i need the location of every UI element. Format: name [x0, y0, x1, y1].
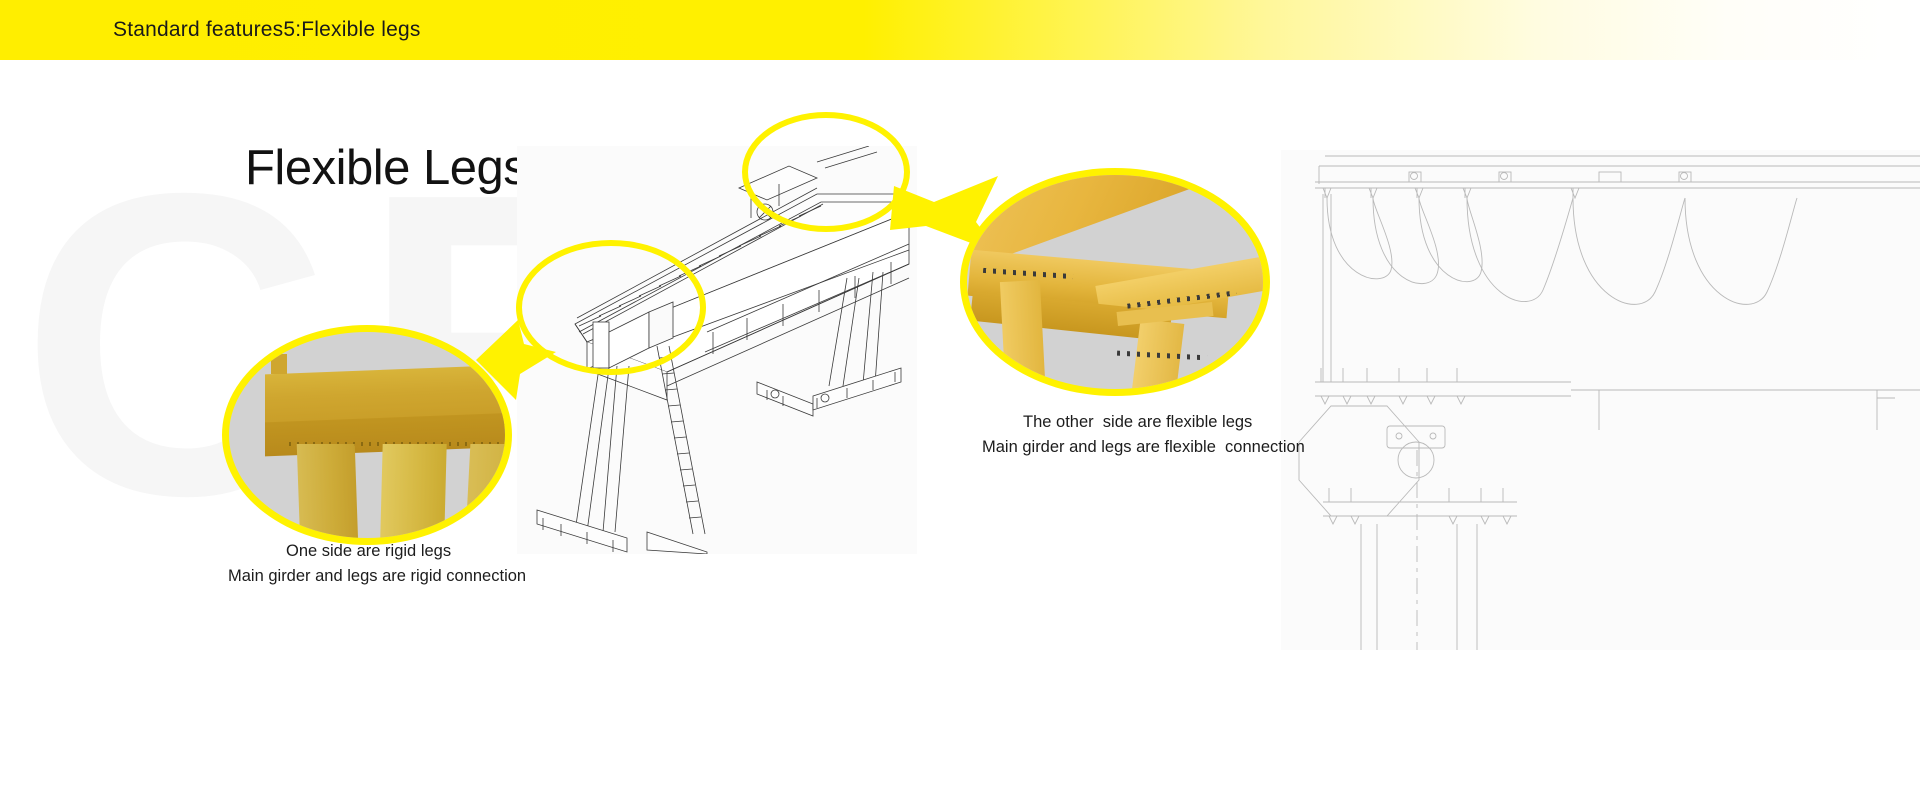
festoon-cable-cad-drawing	[1281, 150, 1920, 650]
cad-elevation-panel	[1281, 150, 1920, 650]
left-caption-line-1: One side are rigid legs	[286, 542, 451, 561]
rigid-leg-photo-bubble	[222, 325, 512, 545]
right-caption-line-1: The other side are flexible legs	[1023, 413, 1252, 432]
rigid-leg-shape-b	[379, 444, 446, 545]
slide-stage	[0, 0, 1920, 800]
girder-end-tab-shape	[271, 354, 287, 374]
flexible-leg-photo-bubble	[960, 168, 1270, 396]
flexible-leg-shape-a	[1000, 280, 1046, 396]
rigid-leg-shape-a	[297, 444, 360, 545]
left-caption-line-2: Main girder and legs are rigid connectio…	[228, 567, 526, 586]
right-caption-line-2: Main girder and legs are flexible connec…	[982, 438, 1305, 457]
rigid-leg-shape-c	[464, 444, 512, 545]
